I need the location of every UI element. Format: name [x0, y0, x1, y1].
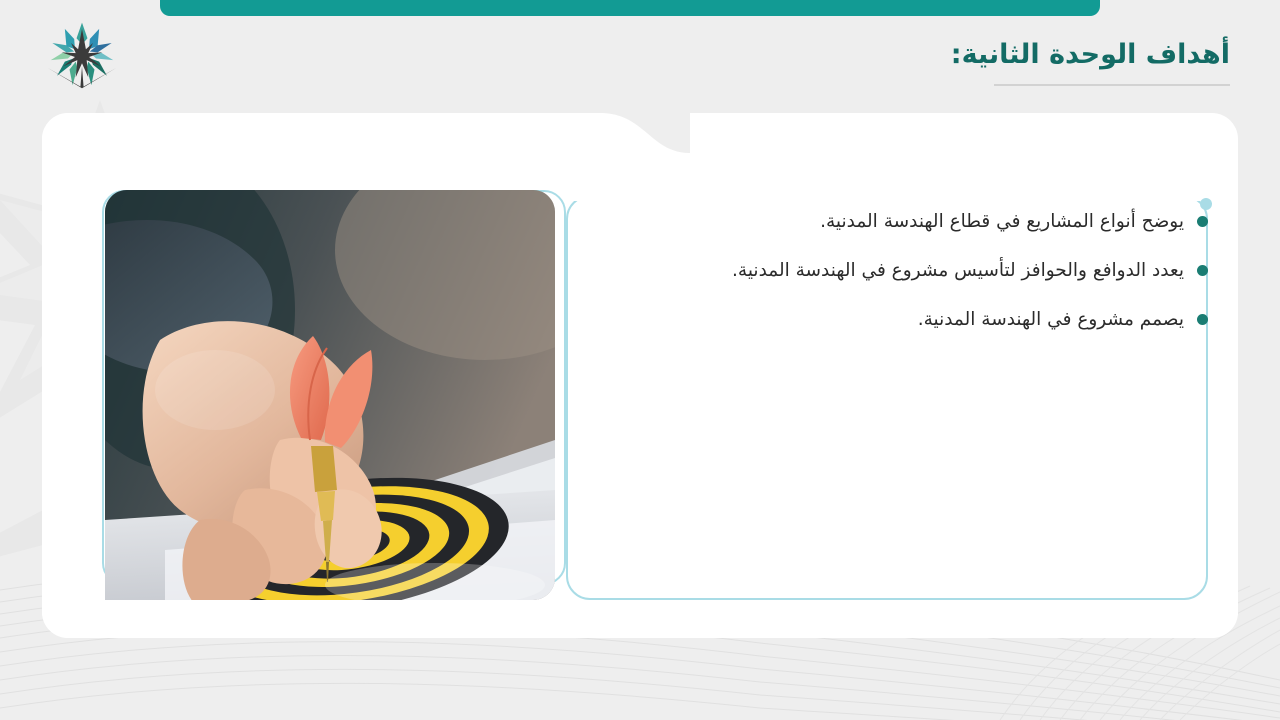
objective-text: يعدد الدوافع والحوافز لتأسيس مشروع في ال… — [732, 257, 1184, 285]
bullet-dot-icon — [1197, 216, 1208, 227]
list-item: يوضح أنواع المشاريع في قطاع الهندسة المد… — [648, 208, 1208, 236]
top-accent-bar — [160, 0, 1100, 16]
frame-cap-mask — [566, 193, 1200, 201]
page-title: أهداف الوحدة الثانية: — [810, 38, 1230, 72]
content-card-step-curve — [600, 113, 690, 153]
list-item: يصمم مشروع في الهندسة المدنية. — [648, 306, 1208, 334]
title-divider — [994, 84, 1230, 86]
objectives-list: يوضح أنواع المشاريع في قطاع الهندسة المد… — [648, 208, 1208, 354]
bullet-dot-icon — [1197, 265, 1208, 276]
page-title-block: أهداف الوحدة الثانية: — [810, 38, 1230, 86]
bullet-dot-icon — [1197, 314, 1208, 325]
objective-text: يوضح أنواع المشاريع في قطاع الهندسة المد… — [820, 208, 1184, 236]
list-item: يعدد الدوافع والحوافز لتأسيس مشروع في ال… — [648, 257, 1208, 285]
dart-on-target-photo — [105, 190, 555, 600]
slide-canvas: أهداف الوحدة الثانية: — [0, 0, 1280, 720]
tvtc-star-logo — [42, 18, 122, 96]
objective-text: يصمم مشروع في الهندسة المدنية. — [918, 306, 1184, 334]
